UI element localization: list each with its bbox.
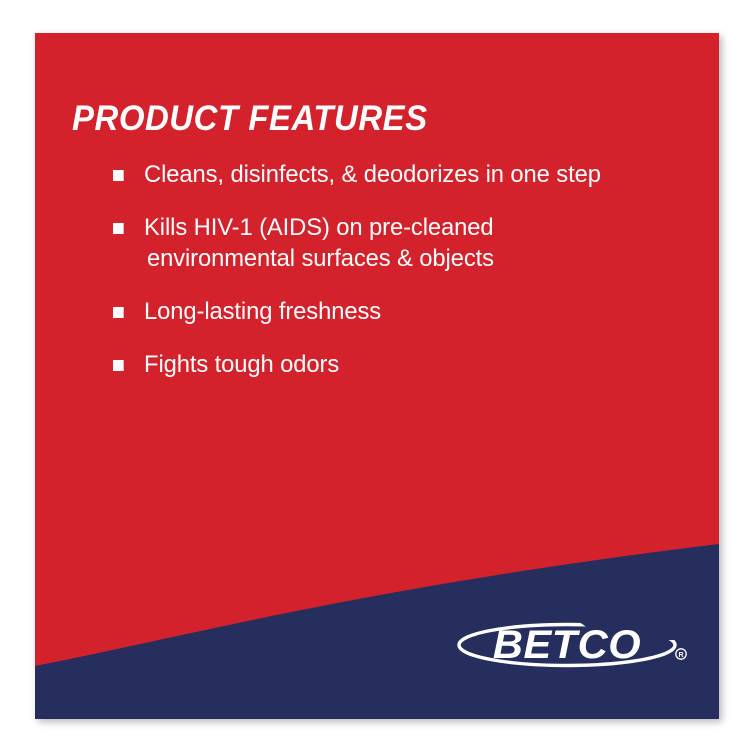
square-bullet-icon bbox=[113, 170, 124, 181]
list-item: Fights tough odors bbox=[113, 349, 666, 380]
feature-text: Kills HIV-1 (AIDS) on pre-cleaned bbox=[144, 214, 493, 241]
list-item: Kills HIV-1 (AIDS) on pre-cleaned enviro… bbox=[113, 212, 666, 274]
logo-wordmark: BETCO bbox=[493, 622, 641, 667]
feature-text: Cleans, disinfects, & deodorizes in one … bbox=[144, 161, 601, 188]
betco-logo: BETCO R bbox=[455, 616, 695, 674]
screenshot-canvas: PRODUCT FEATURES Cleans, disinfects, & d… bbox=[0, 0, 750, 750]
svg-text:R: R bbox=[678, 652, 683, 659]
list-item: Cleans, disinfects, & deodorizes in one … bbox=[113, 159, 666, 190]
product-features-list: Cleans, disinfects, & deodorizes in one … bbox=[113, 159, 683, 380]
feature-text: Fights tough odors bbox=[144, 351, 339, 378]
square-bullet-icon bbox=[113, 307, 124, 318]
feature-text: Long-lasting freshness bbox=[144, 298, 381, 325]
square-bullet-icon bbox=[113, 360, 124, 371]
page-title: PRODUCT FEATURES bbox=[72, 101, 428, 138]
list-item: Long-lasting freshness bbox=[113, 296, 666, 327]
square-bullet-icon bbox=[113, 223, 124, 234]
product-features-card: PRODUCT FEATURES Cleans, disinfects, & d… bbox=[35, 33, 719, 719]
registered-trademark-icon: R bbox=[676, 649, 686, 659]
feature-text-continued: environmental surfaces & objects bbox=[144, 243, 666, 274]
